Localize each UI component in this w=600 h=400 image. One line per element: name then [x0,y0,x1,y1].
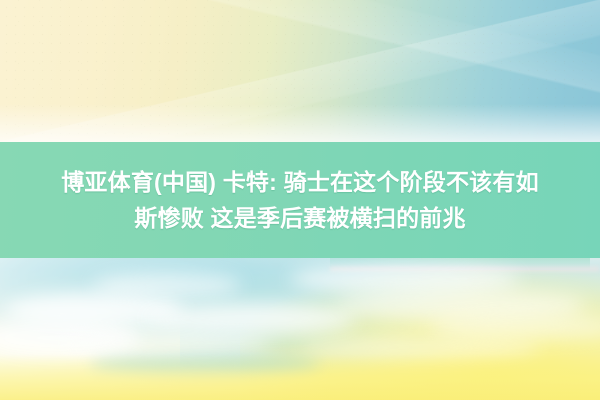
header-glow [0,104,600,142]
headline-line-1: 博亚体育(中国) 卡特: 骑士在这个阶段不该有如 [61,169,539,195]
gradient-header [0,0,600,142]
cloud-icon [60,330,270,356]
dot-grid-texture [0,0,600,142]
cloud-icon [92,272,242,298]
headline-line-2: 斯惨败 这是季后赛被横扫的前兆 [20,200,580,236]
diagonal-facet-secondary-icon [0,0,600,142]
diagonal-facet-icon [0,0,600,142]
promo-banner: 博亚体育(中国) 卡特: 骑士在这个阶段不该有如 斯惨败 这是季后赛被横扫的前兆 [0,0,600,400]
headline-band: 博亚体育(中国) 卡特: 骑士在这个阶段不该有如 斯惨败 这是季后赛被横扫的前兆 [0,142,600,258]
page-title: 博亚体育(中国) 卡特: 骑士在这个阶段不该有如 斯惨败 这是季后赛被横扫的前兆 [20,164,580,236]
sky-cloud-area [0,258,600,400]
sky-horizon-glow [0,354,600,400]
